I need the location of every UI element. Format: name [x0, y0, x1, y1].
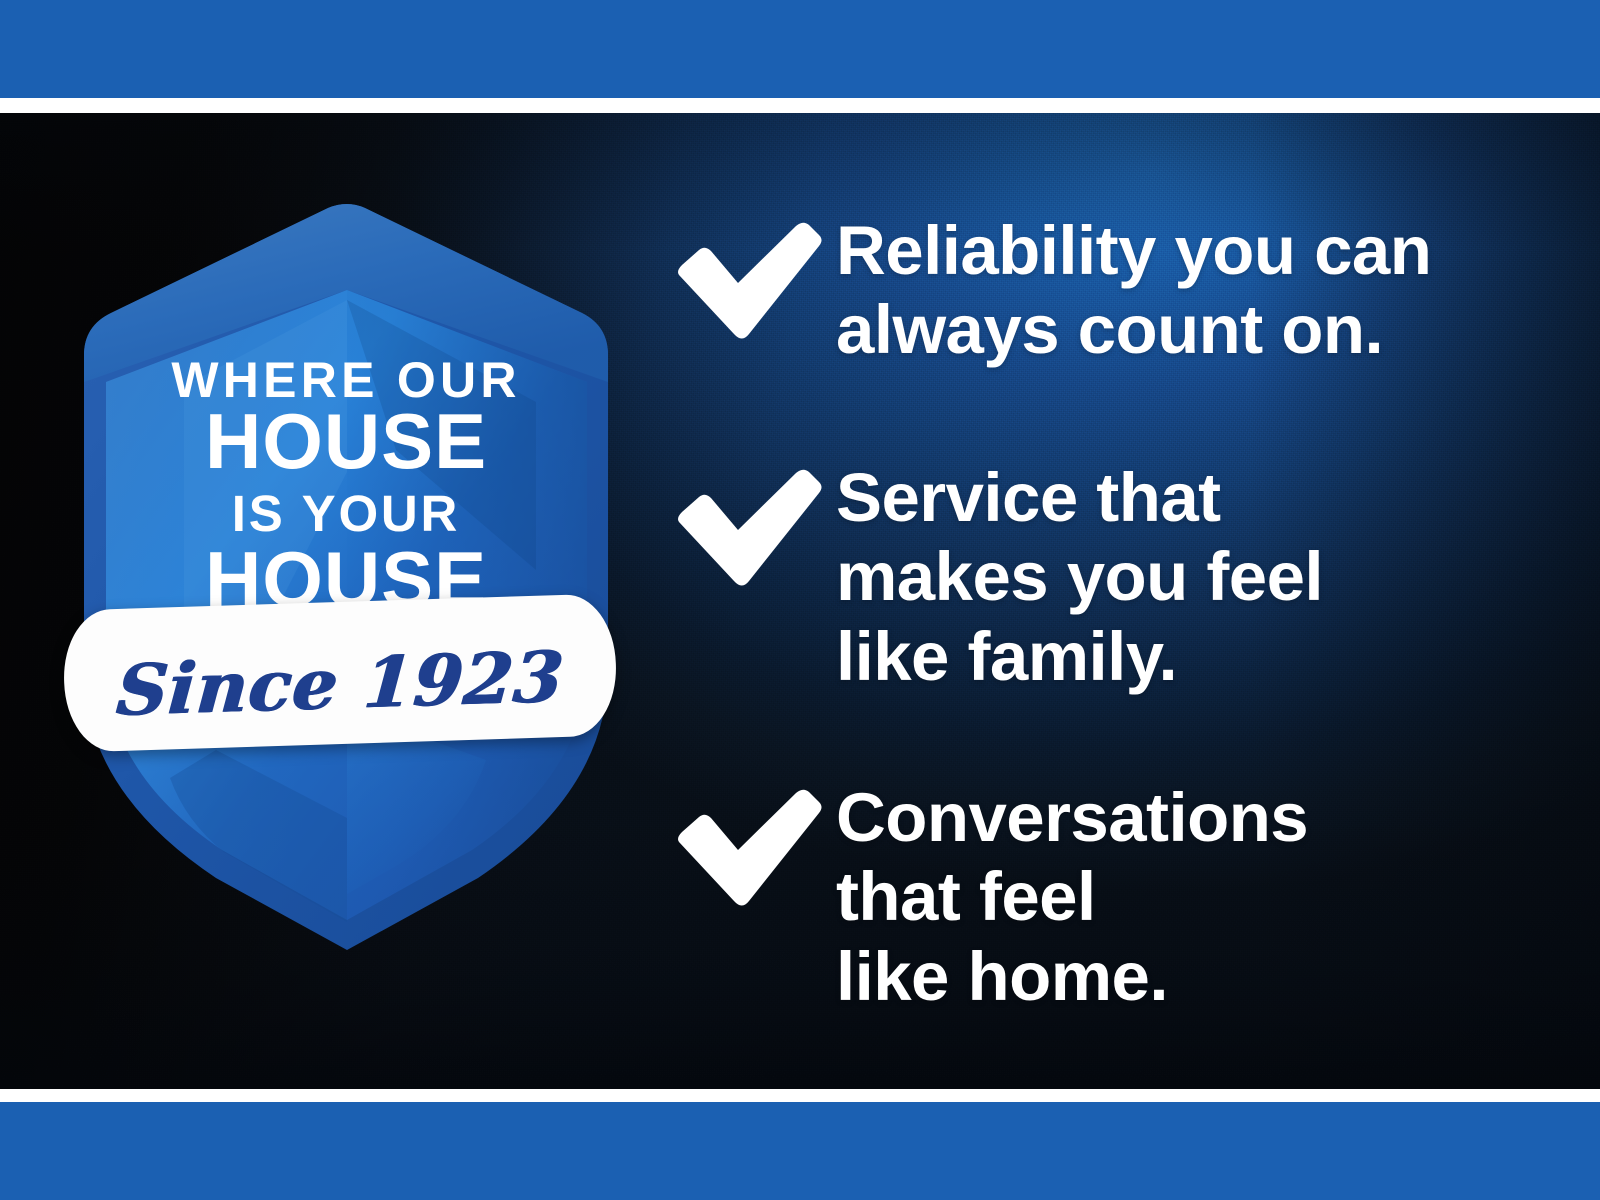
shield-icon [66, 150, 626, 950]
benefit-text-3: Conversations that feel like home. [836, 778, 1308, 1016]
benefits-list: Reliability you can always count on. Ser… [672, 113, 1532, 1089]
checkmark-icon [672, 219, 824, 347]
benefit-item-1: Reliability you can always count on. [672, 211, 1431, 370]
top-blue-band [0, 0, 1600, 98]
checkmark-icon [672, 786, 824, 914]
promo-graphic: Where our House is your House Since 1923… [0, 0, 1600, 1200]
benefit-text-1: Reliability you can always count on. [836, 211, 1431, 370]
top-white-stripe [0, 98, 1600, 113]
bottom-blue-band [0, 1102, 1600, 1200]
bottom-white-stripe [0, 1089, 1600, 1102]
checkmark-icon [672, 466, 824, 594]
benefit-text-2: Service that makes you feel like family. [836, 458, 1323, 696]
benefit-item-2: Service that makes you feel like family. [672, 458, 1323, 696]
benefit-item-3: Conversations that feel like home. [672, 778, 1308, 1016]
shield-badge: Where our House is your House Since 1923 [66, 150, 626, 950]
